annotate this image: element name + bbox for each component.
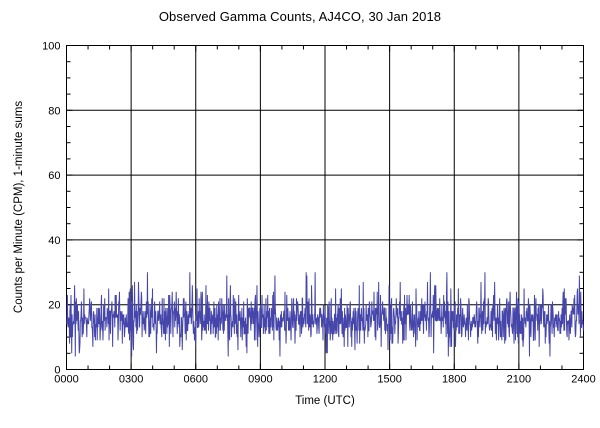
x-tick-label: 0600 bbox=[184, 374, 208, 386]
x-tick-label: 1800 bbox=[442, 374, 466, 386]
y-tick-label: 60 bbox=[48, 170, 60, 182]
y-tick-label: 0 bbox=[54, 365, 60, 377]
x-tick-label: 1500 bbox=[377, 374, 401, 386]
y-axis-tick-labels: 020406080100 bbox=[42, 41, 60, 377]
y-tick-label: 80 bbox=[48, 105, 60, 117]
chart-figure: Observed Gamma Counts, AJ4CO, 30 Jan 201… bbox=[0, 0, 600, 428]
y-tick-label: 100 bbox=[42, 41, 60, 53]
y-tick-label: 40 bbox=[48, 235, 60, 247]
plot-area-svg: 000003000600090012001500180021002400 020… bbox=[0, 0, 600, 428]
x-tick-label: 2100 bbox=[507, 374, 531, 386]
y-axis-title: Counts per Minute (CPM), 1-minute sums bbox=[13, 101, 25, 313]
x-axis-tick-labels: 000003000600090012001500180021002400 bbox=[54, 374, 595, 386]
x-tick-label: 1200 bbox=[313, 374, 337, 386]
x-tick-label: 2400 bbox=[571, 374, 595, 386]
x-tick-label: 0300 bbox=[119, 374, 143, 386]
y-tick-label: 20 bbox=[48, 300, 60, 312]
x-axis-title: Time (UTC) bbox=[295, 395, 355, 407]
x-tick-label: 0900 bbox=[248, 374, 272, 386]
